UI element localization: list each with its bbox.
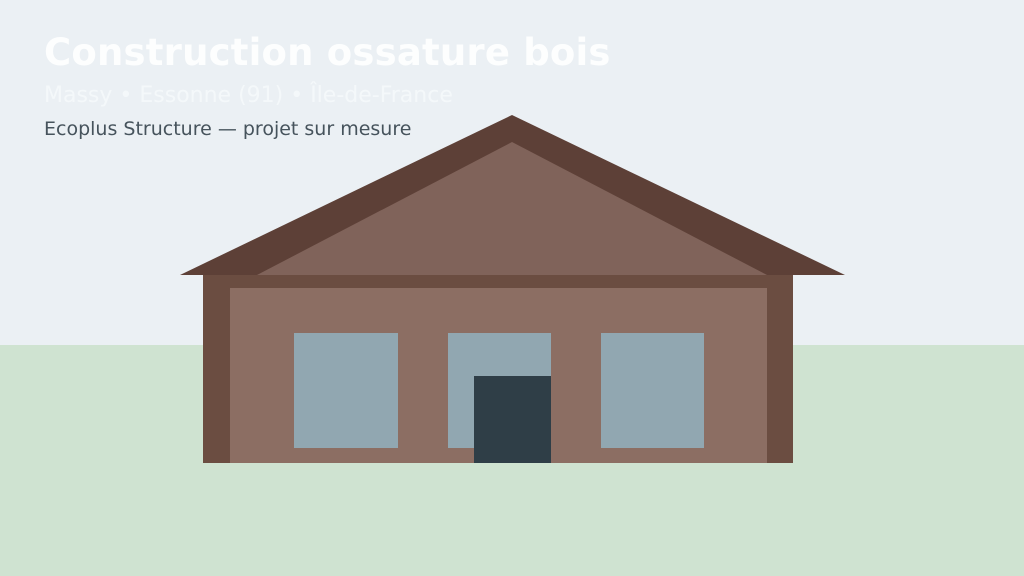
- page-title: Construction ossature bois: [44, 34, 844, 71]
- front-door-shape: [474, 376, 551, 463]
- window-left: [294, 333, 398, 448]
- company-tagline: Ecoplus Structure — projet sur mesure: [44, 107, 844, 139]
- header-text-block: Construction ossature bois Massy • Esson…: [44, 34, 844, 139]
- hero-scene: Construction ossature bois Massy • Esson…: [0, 0, 1024, 576]
- window-right: [601, 333, 704, 448]
- location-subtitle: Massy • Essonne (91) • Île-de-France: [44, 71, 844, 107]
